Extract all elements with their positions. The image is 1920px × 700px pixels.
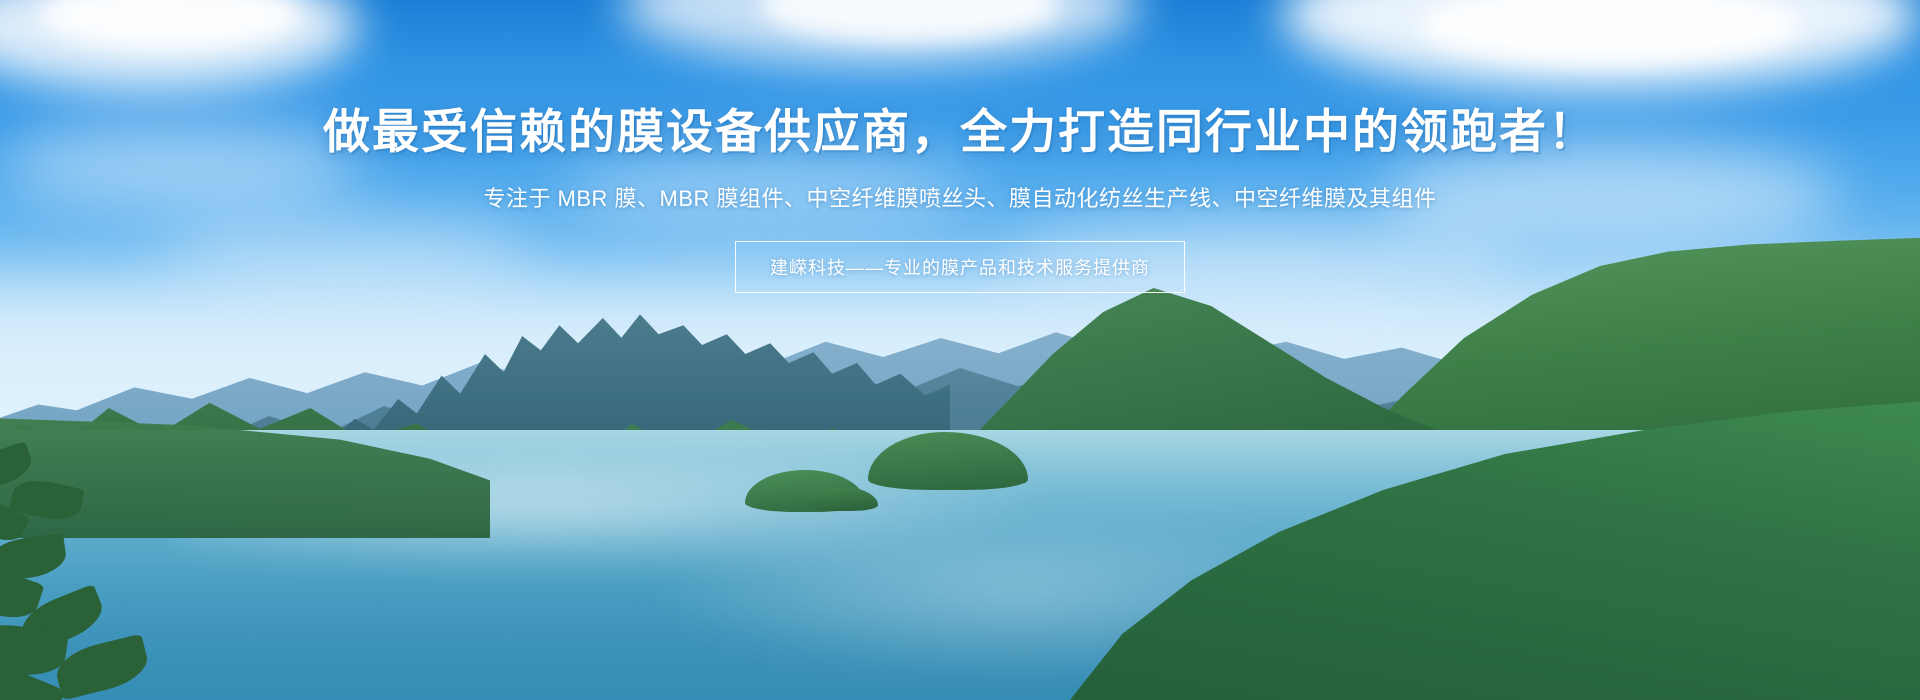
cloud-wisp-left bbox=[0, 120, 360, 210]
foreground-foliage bbox=[0, 430, 260, 700]
hero-banner: 做最受信赖的膜设备供应商，全力打造同行业中的领跑者！ 专注于 MBR 膜、MBR… bbox=[0, 0, 1920, 700]
cloud-wisp-center bbox=[560, 150, 980, 230]
